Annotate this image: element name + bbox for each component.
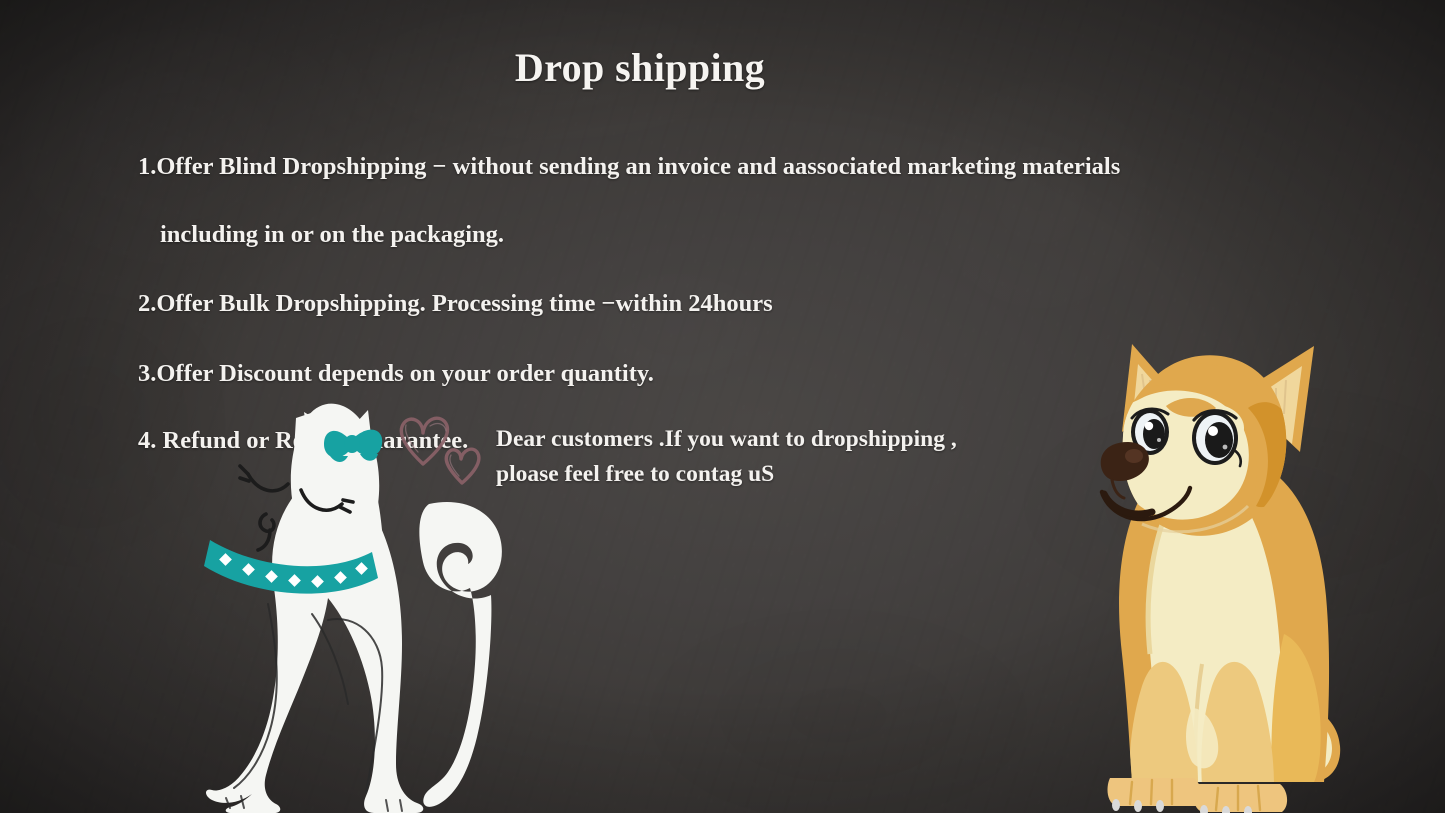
white-cat-illustration (196, 392, 526, 813)
bullet-item-1-line-2: including in or on the packaging. (160, 221, 504, 248)
drop-shipping-slide: Drop shipping 1.Offer Blind Dropshipping… (0, 0, 1445, 813)
customer-callout-line-2: ploase feel free to contag uS (496, 457, 1136, 492)
bullet-item-2: 2.Offer Bulk Dropshipping. Processing ti… (138, 287, 1388, 321)
shiba-inu-illustration (1088, 334, 1346, 813)
page-title: Drop shipping (0, 44, 1280, 91)
customer-callout: Dear customers .If you want to dropshipp… (496, 422, 1136, 492)
bullet-item-1: 1.Offer Blind Dropshipping − without sen… (138, 116, 1388, 252)
bullet-item-1-line-1: 1.Offer Blind Dropshipping − without sen… (138, 153, 1120, 180)
dog-paws (1108, 778, 1288, 813)
customer-callout-line-1: Dear customers .If you want to dropshipp… (496, 422, 1136, 457)
cat-tail (419, 502, 502, 807)
